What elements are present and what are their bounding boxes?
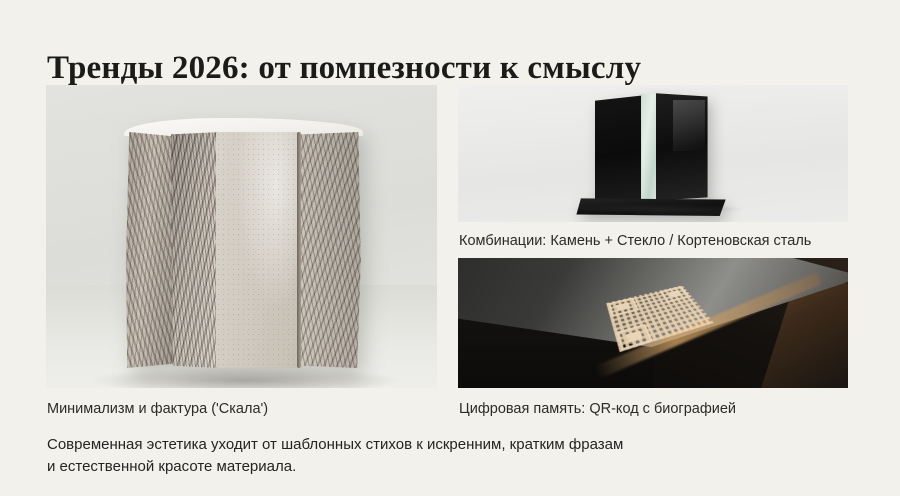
stone-face-left-rough <box>126 132 178 368</box>
qr-finder-top-left <box>608 298 639 317</box>
rough-cut-stone-monument-photo <box>46 85 437 388</box>
stone-monument-shape <box>126 118 361 366</box>
granite-slab-right <box>656 93 708 200</box>
glass-insert-pane <box>641 94 658 202</box>
page-title: Тренды 2026: от помпезности к смыслу <box>47 48 857 88</box>
caption-qr: Цифровая память: QR-код с биографией <box>459 400 736 418</box>
caption-glass: Комбинации: Камень + Стекло / Кортеновск… <box>459 232 811 250</box>
body-line-1: Современная эстетика уходит от шаблонных… <box>47 434 847 456</box>
stone-face-polished-center <box>216 132 298 368</box>
stone-ground-shadow <box>93 367 398 388</box>
body-paragraph: Современная эстетика уходит от шаблонных… <box>47 434 847 478</box>
stone-face-right-rough <box>301 132 361 368</box>
qr-finder-top-right <box>660 286 690 302</box>
glass-ground-shadow <box>567 204 746 214</box>
stone-face-mid-rough <box>171 132 220 368</box>
stone-seam-line <box>297 132 301 368</box>
qr-code-engraved-stone-photo <box>458 258 848 388</box>
slide-root: Тренды 2026: от помпезности к смыслу Мин… <box>0 0 900 496</box>
body-line-2: и естественной красоте материала. <box>47 456 847 478</box>
caption-stone: Минимализм и фактура ('Скала') <box>47 400 268 418</box>
granite-slab-left <box>595 95 644 201</box>
granite-glass-monument-photo <box>458 85 848 222</box>
glass-monument-shape <box>595 93 708 203</box>
